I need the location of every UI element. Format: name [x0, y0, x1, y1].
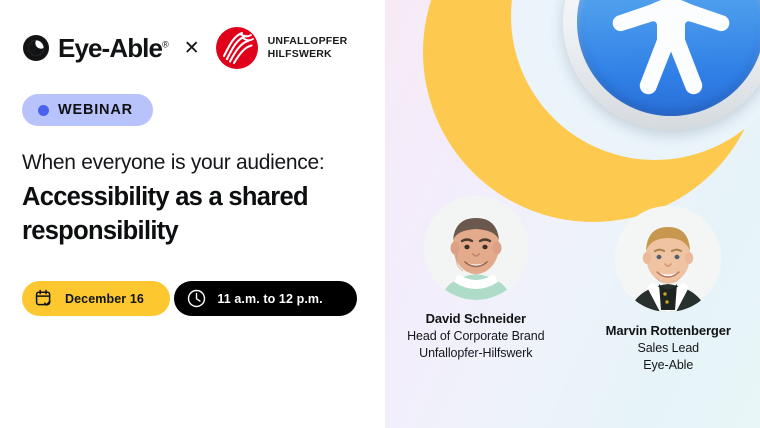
speaker-photo-marvin-rottenberger: [615, 206, 721, 312]
eye-aperture-icon: [22, 34, 50, 62]
speaker-org: Eye-Able: [643, 358, 693, 372]
event-time-text: 11 a.m. to 12 p.m.: [217, 292, 322, 306]
partner-name-line1: UNFALLOPFER: [268, 35, 348, 47]
eye-able-name: Eye-Able: [58, 33, 162, 63]
speaker-name: David Schneider: [426, 311, 526, 326]
right-visual-panel: David Schneider Head of Corporate Brand …: [385, 0, 760, 428]
unfallopfer-hilfswerk-wordmark: UNFALLOPFER HILFSWERK: [268, 35, 348, 62]
headline-kicker: When everyone is your audience:: [22, 150, 382, 177]
unfallopfer-hilfswerk-logo: UNFALLOPFER HILFSWERK: [215, 26, 348, 70]
speaker-role: Head of Corporate Brand: [407, 329, 544, 343]
speaker-card: David Schneider Head of Corporate Brand …: [385, 196, 573, 372]
event-time-pill: 11 a.m. to 12 p.m.: [174, 281, 356, 316]
headline-title-line1: Accessibility as a shared: [22, 183, 308, 211]
eye-able-logo: Eye-Able®: [22, 34, 169, 62]
left-content-panel: Eye-Able® ✕: [0, 0, 385, 428]
logo-lockup: Eye-Able® ✕: [22, 28, 385, 68]
eye-able-wordmark: Eye-Able®: [58, 35, 169, 61]
badge-dot-icon: [38, 105, 49, 116]
speaker-role: Sales Lead: [637, 341, 699, 355]
speaker-photo-david-schneider: [424, 196, 528, 300]
headline-title-line2: responsibility: [22, 217, 178, 245]
webinar-badge: WEBINAR: [22, 94, 153, 126]
event-date-pill: December 16: [22, 281, 170, 316]
webinar-promo-banner: Eye-Able® ✕: [0, 0, 760, 428]
accessibility-person-icon: [563, 0, 760, 130]
partner-name-line2: HILFSWERK: [268, 48, 332, 60]
event-date-text: December 16: [65, 292, 144, 306]
event-details: December 16 11 a.m. to 12 p.m.: [22, 274, 385, 316]
headline-title: Accessibility as a shared responsibility: [22, 181, 382, 248]
speaker-name: Marvin Rottenberger: [606, 323, 731, 338]
logo-separator-x-icon: ✕: [184, 39, 200, 58]
accessibility-figure-glyph: [577, 0, 760, 116]
speakers-list: David Schneider Head of Corporate Brand …: [385, 196, 760, 372]
speaker-card: Marvin Rottenberger Sales Lead Eye-Able: [573, 196, 760, 372]
badge-label: WEBINAR: [58, 102, 133, 118]
unfallopfer-hilfswerk-waves-icon: [215, 26, 259, 70]
calendar-check-icon: [34, 288, 55, 309]
clock-icon: [186, 288, 207, 309]
headline-block: When everyone is your audience: Accessib…: [22, 150, 382, 248]
speaker-org: Unfallopfer-Hilfswerk: [419, 346, 532, 360]
registered-trademark-symbol: ®: [162, 39, 169, 49]
